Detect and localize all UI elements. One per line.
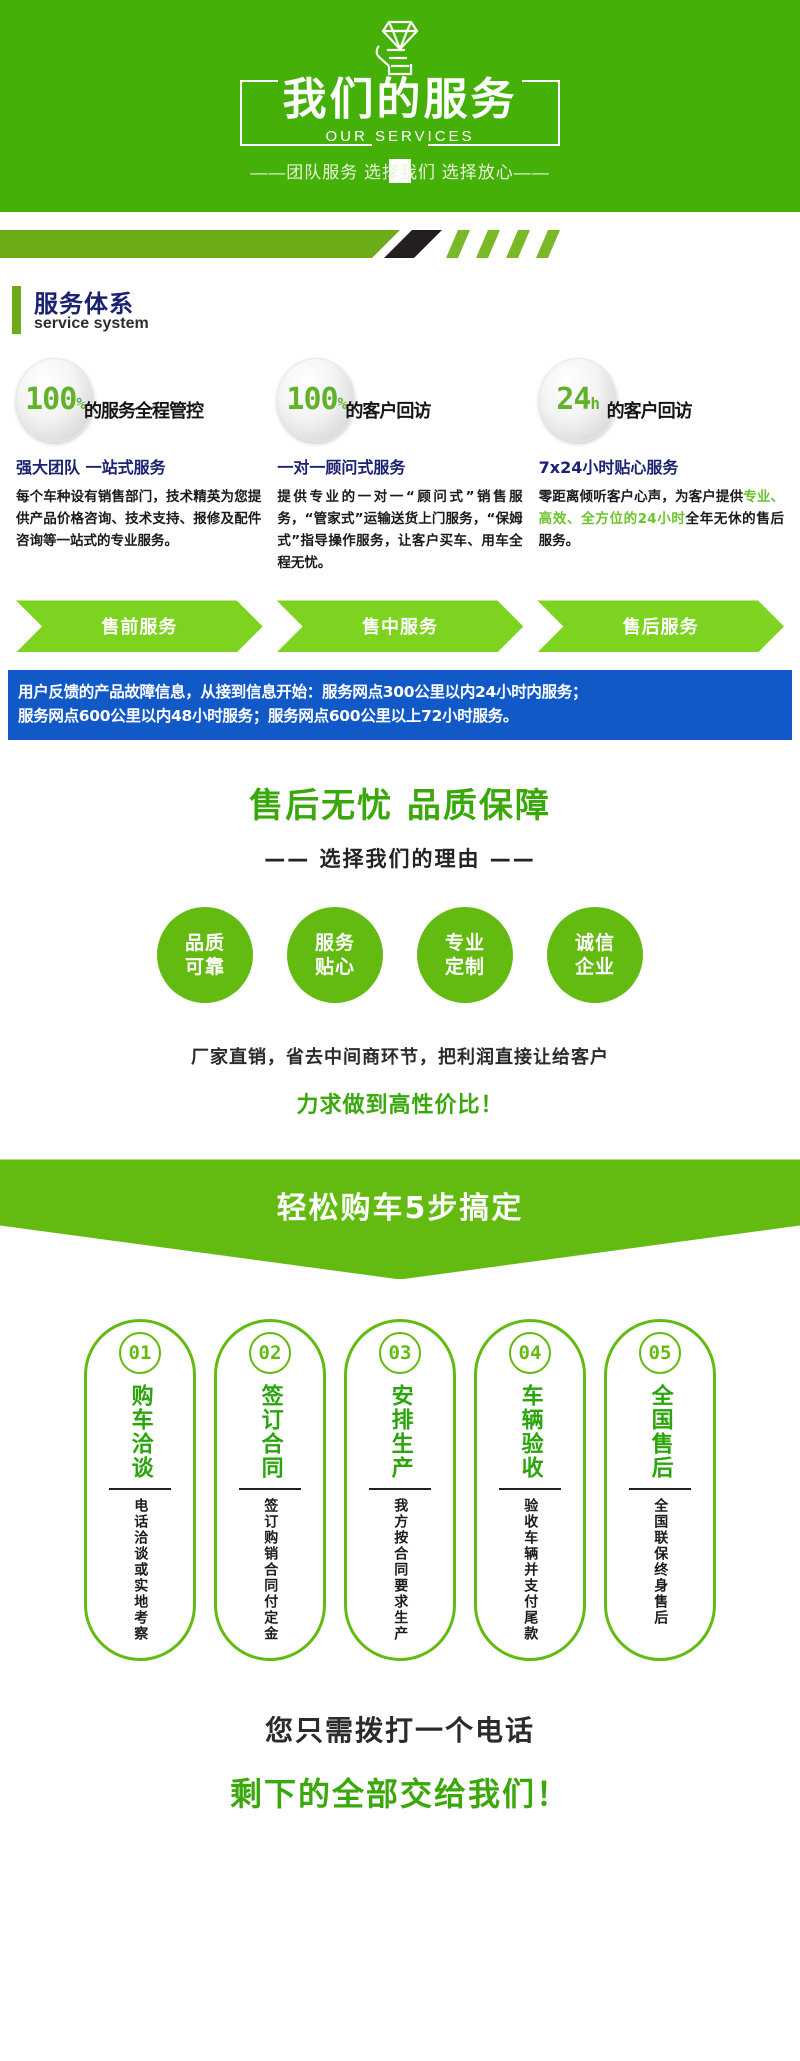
page-header: 我们的服务 OUR SERVICES ——团队服务 选择我们 选择放心—— [0, 0, 800, 212]
purchase-step-4[interactable]: 04 车辆验收 验收车辆并支付尾款 [474, 1319, 586, 1661]
step-number: 04 [509, 1332, 551, 1374]
step-number: 02 [249, 1332, 291, 1374]
section-title-cn: 服务体系 [34, 284, 134, 319]
metric-value: 100% [25, 385, 85, 415]
stripe-olive [0, 230, 400, 258]
step-number: 03 [379, 1332, 421, 1374]
page-title: 我们的服务 [283, 78, 518, 122]
purchase-step-group: 01 购车洽谈 电话洽谈或实地考察 02 签订合同 签订购销合同付定金 03 安… [0, 1319, 800, 1661]
quality-footer-line-1: 厂家直销，省去中间商环节，把利润直接让给客户 [0, 1043, 800, 1069]
feature-body: 零距离倾听客户心声，为客户提供专业、高效、全方位的24小时全年无休的售后服务。 [539, 487, 784, 553]
purchase-step-2[interactable]: 02 签订合同 签订购销合同付定金 [214, 1319, 326, 1661]
feature-column-3: 24h 的客户回访 7x24小时贴心服务 零距离倾听客户心声，为客户提供专业、高… [531, 358, 792, 574]
step-description: 我方按合同要求生产 [389, 1498, 411, 1642]
pill-line-1: 专业 [445, 931, 485, 955]
step-divider [499, 1488, 561, 1490]
quality-pill-4[interactable]: 诚信 企业 [547, 907, 643, 1003]
purchase-step-3[interactable]: 03 安排生产 我方按合同要求生产 [344, 1319, 456, 1661]
metric-label: 的客户回访 [607, 397, 692, 423]
quality-pill-2[interactable]: 服务 贴心 [287, 907, 383, 1003]
pill-line-2: 企业 [575, 955, 615, 979]
stripe-slash-3 [506, 230, 530, 258]
step-description: 验收车辆并支付尾款 [519, 1498, 541, 1642]
feature-subtitle: 7x24小时贴心服务 [539, 454, 784, 478]
feature-body: 每个车种设有销售部门，技术精英为您提供产品价格咨询、技术支持、报修及配件咨询等一… [16, 487, 261, 553]
decorative-stripe-band [0, 212, 800, 274]
arrow-banner-label: 轻松购车5步搞定 [277, 1183, 524, 1227]
step-number: 01 [119, 1332, 161, 1374]
service-stage-chevrons: 售前服务 售中服务 售后服务 [0, 600, 800, 652]
feature-columns: 100% 的服务全程管控 强大团队 一站式服务 每个车种设有销售部门，技术精英为… [0, 358, 800, 574]
feature-subtitle: 强大团队 一站式服务 [16, 454, 261, 478]
feature-badge-row: 100% 的客户回访 [277, 358, 522, 442]
stripe-slash-2 [476, 230, 500, 258]
policy-line-1: 用户反馈的产品故障信息，从接到信息开始：服务网点300公里以内24小时内服务； [18, 680, 782, 704]
quality-pill-1[interactable]: 品质 可靠 [157, 907, 253, 1003]
metric-value: 24h [556, 385, 599, 415]
chevron-aftersale[interactable]: 售后服务 [537, 600, 784, 652]
feature-subtitle: 一对一顾问式服务 [277, 454, 522, 478]
purchase-step-1[interactable]: 01 购车洽谈 电话洽谈或实地考察 [84, 1319, 196, 1661]
section-accent-bar [12, 286, 21, 334]
pill-line-1: 品质 [185, 931, 225, 955]
chevron-label: 售后服务 [623, 613, 699, 639]
pill-line-1: 服务 [315, 931, 355, 955]
feature-badge-row: 24h 的客户回访 [539, 358, 784, 442]
cta-line-2: 剩下的全部交给我们！ [0, 1769, 800, 1815]
stripe-slash-1 [446, 230, 470, 258]
chevron-presale[interactable]: 售前服务 [16, 600, 263, 652]
step-description: 签订购销合同付定金 [259, 1498, 281, 1642]
step-title: 车辆验收 [517, 1384, 542, 1480]
step-number: 05 [639, 1332, 681, 1374]
metric-badge-circle: 100% [277, 358, 355, 442]
chevron-label: 售前服务 [101, 613, 177, 639]
page-subtitle: OUR SERVICES [325, 128, 474, 145]
step-divider [369, 1488, 431, 1490]
metric-label: 的客户回访 [345, 397, 430, 423]
step-divider [239, 1488, 301, 1490]
feature-body: 提供专业的一对一“顾问式”销售服务，“管家式”运输送货上门服务，“保姆式”指导操… [277, 487, 522, 574]
metric-label: 的服务全程管控 [84, 397, 203, 423]
quality-title: 售后无忧 品质保障 [0, 778, 800, 827]
pill-line-1: 诚信 [575, 931, 615, 955]
header-tagline: ——团队服务 选择我们 选择放心—— [250, 158, 549, 183]
metric-value: 100% [286, 385, 346, 415]
section-title-en: service system [34, 315, 149, 333]
quality-pill-group: 品质 可靠 服务 贴心 专业 定制 诚信 企业 [0, 907, 800, 1003]
step-title: 安排生产 [387, 1384, 412, 1480]
step-title: 购车洽谈 [127, 1384, 152, 1480]
pill-line-2: 定制 [445, 955, 485, 979]
step-description: 全国联保终身售后 [649, 1498, 671, 1626]
stripe-slash-4 [536, 230, 560, 258]
policy-line-2: 服务网点600公里以内48小时服务；服务网点600公里以上72小时服务。 [18, 704, 782, 728]
quality-footer-line-2: 力求做到高性价比！ [0, 1087, 800, 1119]
metric-badge-circle: 24h [539, 358, 617, 442]
step-divider [629, 1488, 691, 1490]
pill-line-2: 可靠 [185, 955, 225, 979]
quality-subtitle: —— 选择我们的理由 —— [0, 843, 800, 873]
purchase-step-5[interactable]: 05 全国售后 全国联保终身售后 [604, 1319, 716, 1661]
cta-line-1: 您只需拨打一个电话 [0, 1709, 800, 1749]
step-divider [109, 1488, 171, 1490]
step-title: 签订合同 [257, 1384, 282, 1480]
feature-column-2: 100% 的客户回访 一对一顾问式服务 提供专业的一对一“顾问式”销售服务，“管… [269, 358, 530, 574]
diamond-in-hand-icon [367, 16, 433, 80]
section-header-service-system: 服务体系 service system [12, 284, 800, 340]
quality-pill-3[interactable]: 专业 定制 [417, 907, 513, 1003]
purchase-steps-arrow-banner: 轻松购车5步搞定 [0, 1159, 800, 1279]
metric-badge-circle: 100% [16, 358, 94, 442]
step-description: 电话洽谈或实地考察 [129, 1498, 151, 1642]
chevron-label: 售中服务 [362, 613, 438, 639]
feature-column-1: 100% 的服务全程管控 强大团队 一站式服务 每个车种设有销售部门，技术精英为… [8, 358, 269, 574]
service-policy-banner: 用户反馈的产品故障信息，从接到信息开始：服务网点300公里以内24小时内服务； … [8, 670, 792, 740]
step-title: 全国售后 [647, 1384, 672, 1480]
pill-line-2: 贴心 [315, 955, 355, 979]
chevron-midsale[interactable]: 售中服务 [277, 600, 524, 652]
feature-badge-row: 100% 的服务全程管控 [16, 358, 261, 442]
